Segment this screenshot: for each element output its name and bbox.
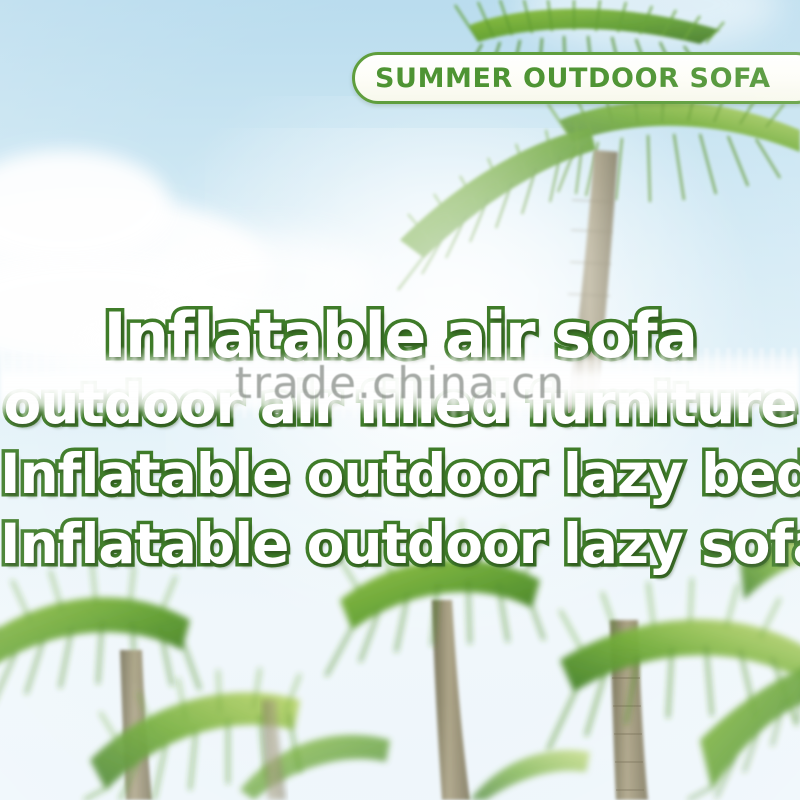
headline-line-4: Inflatable outdoor lazy sofa xyxy=(0,517,800,587)
headline-line-1-text: Inflatable air sofa xyxy=(103,305,696,367)
headline-line-2: outdoor air filled furniture xyxy=(0,377,800,447)
headline-line-3: Inflatable outdoor lazy bed xyxy=(0,447,800,517)
headline-line-4-text: Inflatable outdoor lazy sofa xyxy=(0,517,800,572)
headline-line-1: Inflatable air sofa xyxy=(0,305,800,371)
headline-block: Inflatable air sofa outdoor air filled f… xyxy=(0,305,800,587)
summer-outdoor-sofa-banner: SUMMER OUTDOOR SOFA xyxy=(352,52,800,104)
product-banner-image: SUMMER OUTDOOR SOFA Inflatable air sofa … xyxy=(0,0,800,800)
banner-label: SUMMER OUTDOOR SOFA xyxy=(375,63,771,94)
headline-line-2-text: outdoor air filled furniture xyxy=(3,377,796,432)
headline-line-3-text: Inflatable outdoor lazy bed xyxy=(0,447,800,502)
